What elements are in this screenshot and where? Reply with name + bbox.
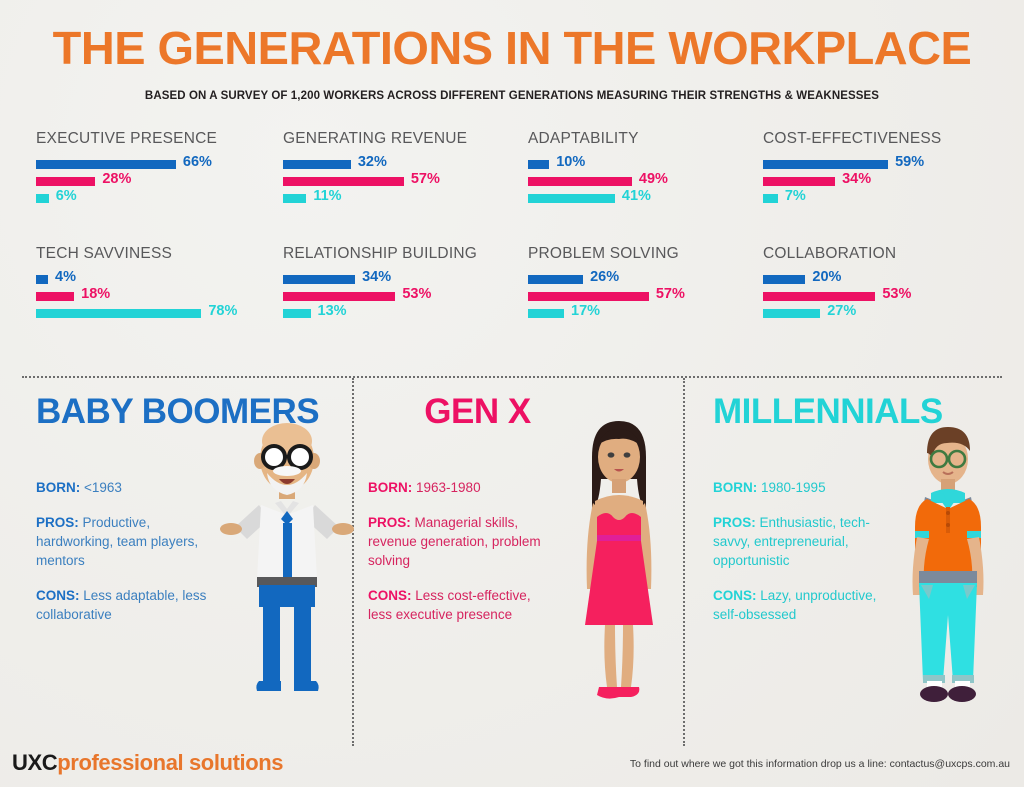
bar-value-label: 27% <box>827 303 856 319</box>
fact-pros: PROS: Enthusiastic, tech-savvy, entrepre… <box>713 513 883 570</box>
generation-facts: BORN: 1980-1995 PROS: Enthusiastic, tech… <box>713 478 883 640</box>
infographic-canvas: THE GENERATIONS IN THE WORKPLACE BASED O… <box>0 0 1024 787</box>
bar-row: 41% <box>528 192 768 209</box>
born-label: BORN: <box>368 480 412 495</box>
born-value: 1963-1980 <box>416 480 481 495</box>
bar-value-label: 41% <box>622 188 651 204</box>
bar-value-label: 66% <box>183 154 212 170</box>
bar-value-label: 53% <box>882 286 911 302</box>
contact-line: To find out where we got this informatio… <box>630 758 1010 770</box>
bar-value-label: 18% <box>81 286 110 302</box>
bar-chart-grid: EXECUTIVE PRESENCE66%28%6%GENERATING REV… <box>0 130 1024 370</box>
fact-cons: CONS: Less adaptable, less collaborative <box>36 586 216 624</box>
bar-row: 53% <box>763 290 1003 307</box>
bar-value-label: 10% <box>556 154 585 170</box>
bar-row: 11% <box>283 192 523 209</box>
bar-row: 7% <box>763 192 1003 209</box>
bar-fill <box>36 177 95 186</box>
bar-fill <box>528 194 615 203</box>
bar-value-label: 17% <box>571 303 600 319</box>
bar-fill <box>528 275 583 284</box>
bar-value-label: 11% <box>313 188 341 204</box>
generation-facts: BORN: <1963 PROS: Productive, hardworkin… <box>36 478 216 640</box>
bar-group-title: EXECUTIVE PRESENCE <box>36 130 276 148</box>
generation-panel-baby-boomers: BABY BOOMERS BORN: <1963 PROS: Productiv… <box>22 392 352 742</box>
uxc-logo: UXCprofessional solutions <box>12 750 283 776</box>
bar-fill <box>36 160 176 169</box>
bar-value-label: 57% <box>656 286 685 302</box>
bar-fill <box>36 194 49 203</box>
bar-row: 78% <box>36 307 276 324</box>
bar-row: 32% <box>283 158 523 175</box>
fact-pros: PROS: Productive, hardworking, team play… <box>36 513 216 570</box>
logo-text: professional solutions <box>57 750 283 775</box>
generation-panel-gen-x: GEN X BORN: 1963-1980 PROS: Managerial s… <box>354 392 683 742</box>
bar-row: 18% <box>36 290 276 307</box>
bar-value-label: 49% <box>639 171 668 187</box>
bar-fill <box>763 160 888 169</box>
bar-group: ADAPTABILITY10%49%41% <box>528 130 768 209</box>
fact-born: BORN: 1963-1980 <box>368 478 558 497</box>
born-value: <1963 <box>84 480 122 495</box>
bar-fill <box>283 194 306 203</box>
young-man-illustration <box>885 419 1011 714</box>
bar-fill <box>283 309 311 318</box>
bar-value-label: 7% <box>785 188 806 204</box>
bar-fill <box>763 275 805 284</box>
bar-fill <box>283 275 355 284</box>
bar-row: 59% <box>763 158 1003 175</box>
bar-group-title: PROBLEM SOLVING <box>528 245 768 263</box>
bar-row: 6% <box>36 192 276 209</box>
fact-cons: CONS: Less cost-effective, less executiv… <box>368 586 558 624</box>
bar-value-label: 57% <box>411 171 440 187</box>
fact-born: BORN: 1980-1995 <box>713 478 883 497</box>
bar-value-label: 6% <box>56 188 77 204</box>
bar-fill <box>763 177 835 186</box>
older-man-illustration <box>217 419 357 704</box>
bar-group: EXECUTIVE PRESENCE66%28%6% <box>36 130 276 209</box>
page-subtitle: BASED ON A SURVEY OF 1,200 WORKERS ACROS… <box>0 90 1024 102</box>
bar-fill <box>528 309 564 318</box>
bar-group-title: GENERATING REVENUE <box>283 130 523 148</box>
bar-value-label: 4% <box>55 269 76 285</box>
bar-value-label: 28% <box>102 171 131 187</box>
bar-group: COST-EFFECTIVENESS59%34%7% <box>763 130 1003 209</box>
born-label: BORN: <box>36 480 80 495</box>
bar-group-title: RELATIONSHIP BUILDING <box>283 245 523 263</box>
bar-fill <box>283 160 351 169</box>
bar-value-label: 34% <box>362 269 391 285</box>
generation-panel-millennials: MILLENNIALS BORN: 1980-1995 PROS: Enthus… <box>685 392 1015 742</box>
bar-group: GENERATING REVENUE32%57%11% <box>283 130 523 209</box>
bar-group-title: TECH SAVVINESS <box>36 245 276 263</box>
bar-fill <box>36 292 74 301</box>
bar-group: COLLABORATION20%53%27% <box>763 245 1003 324</box>
woman-illustration <box>559 419 679 714</box>
logo-mark: UXC <box>12 750 57 775</box>
pros-label: PROS: <box>36 515 79 530</box>
bar-value-label: 78% <box>208 303 237 319</box>
bar-fill <box>528 292 649 301</box>
bar-group: PROBLEM SOLVING26%57%17% <box>528 245 768 324</box>
horizontal-divider <box>22 376 1002 378</box>
bar-fill <box>763 194 778 203</box>
fact-born: BORN: <1963 <box>36 478 216 497</box>
bar-group-title: COST-EFFECTIVENESS <box>763 130 1003 148</box>
pros-label: PROS: <box>368 515 411 530</box>
bar-row: 57% <box>528 290 768 307</box>
bar-fill <box>528 160 549 169</box>
bar-fill <box>283 292 395 301</box>
bar-fill <box>763 292 875 301</box>
bar-fill <box>36 309 201 318</box>
bar-row: 27% <box>763 307 1003 324</box>
generation-facts: BORN: 1963-1980 PROS: Managerial skills,… <box>368 478 558 640</box>
pros-label: PROS: <box>713 515 756 530</box>
bar-group: TECH SAVVINESS4%18%78% <box>36 245 276 324</box>
born-value: 1980-1995 <box>761 480 826 495</box>
cons-label: CONS: <box>36 588 80 603</box>
bar-fill <box>763 309 820 318</box>
bar-fill <box>36 275 48 284</box>
bar-value-label: 20% <box>812 269 841 285</box>
bar-value-label: 34% <box>842 171 871 187</box>
bar-value-label: 53% <box>402 286 431 302</box>
fact-cons: CONS: Lazy, unproductive, self-obsessed <box>713 586 883 624</box>
bar-value-label: 32% <box>358 154 387 170</box>
page-title: THE GENERATIONS IN THE WORKPLACE <box>0 22 1024 74</box>
bar-group: RELATIONSHIP BUILDING34%53%13% <box>283 245 523 324</box>
cons-label: CONS: <box>713 588 757 603</box>
bar-row: 13% <box>283 307 523 324</box>
bar-fill <box>283 177 404 186</box>
bar-group-title: ADAPTABILITY <box>528 130 768 148</box>
fact-pros: PROS: Managerial skills, revenue generat… <box>368 513 558 570</box>
bar-row: 66% <box>36 158 276 175</box>
bar-group-title: COLLABORATION <box>763 245 1003 263</box>
bar-fill <box>528 177 632 186</box>
cons-label: CONS: <box>368 588 412 603</box>
bar-value-label: 13% <box>318 303 347 319</box>
bar-value-label: 26% <box>590 269 619 285</box>
bar-row: 17% <box>528 307 768 324</box>
born-label: BORN: <box>713 480 757 495</box>
bar-value-label: 59% <box>895 154 924 170</box>
bar-row: 4% <box>36 273 276 290</box>
bar-row: 26% <box>528 273 768 290</box>
